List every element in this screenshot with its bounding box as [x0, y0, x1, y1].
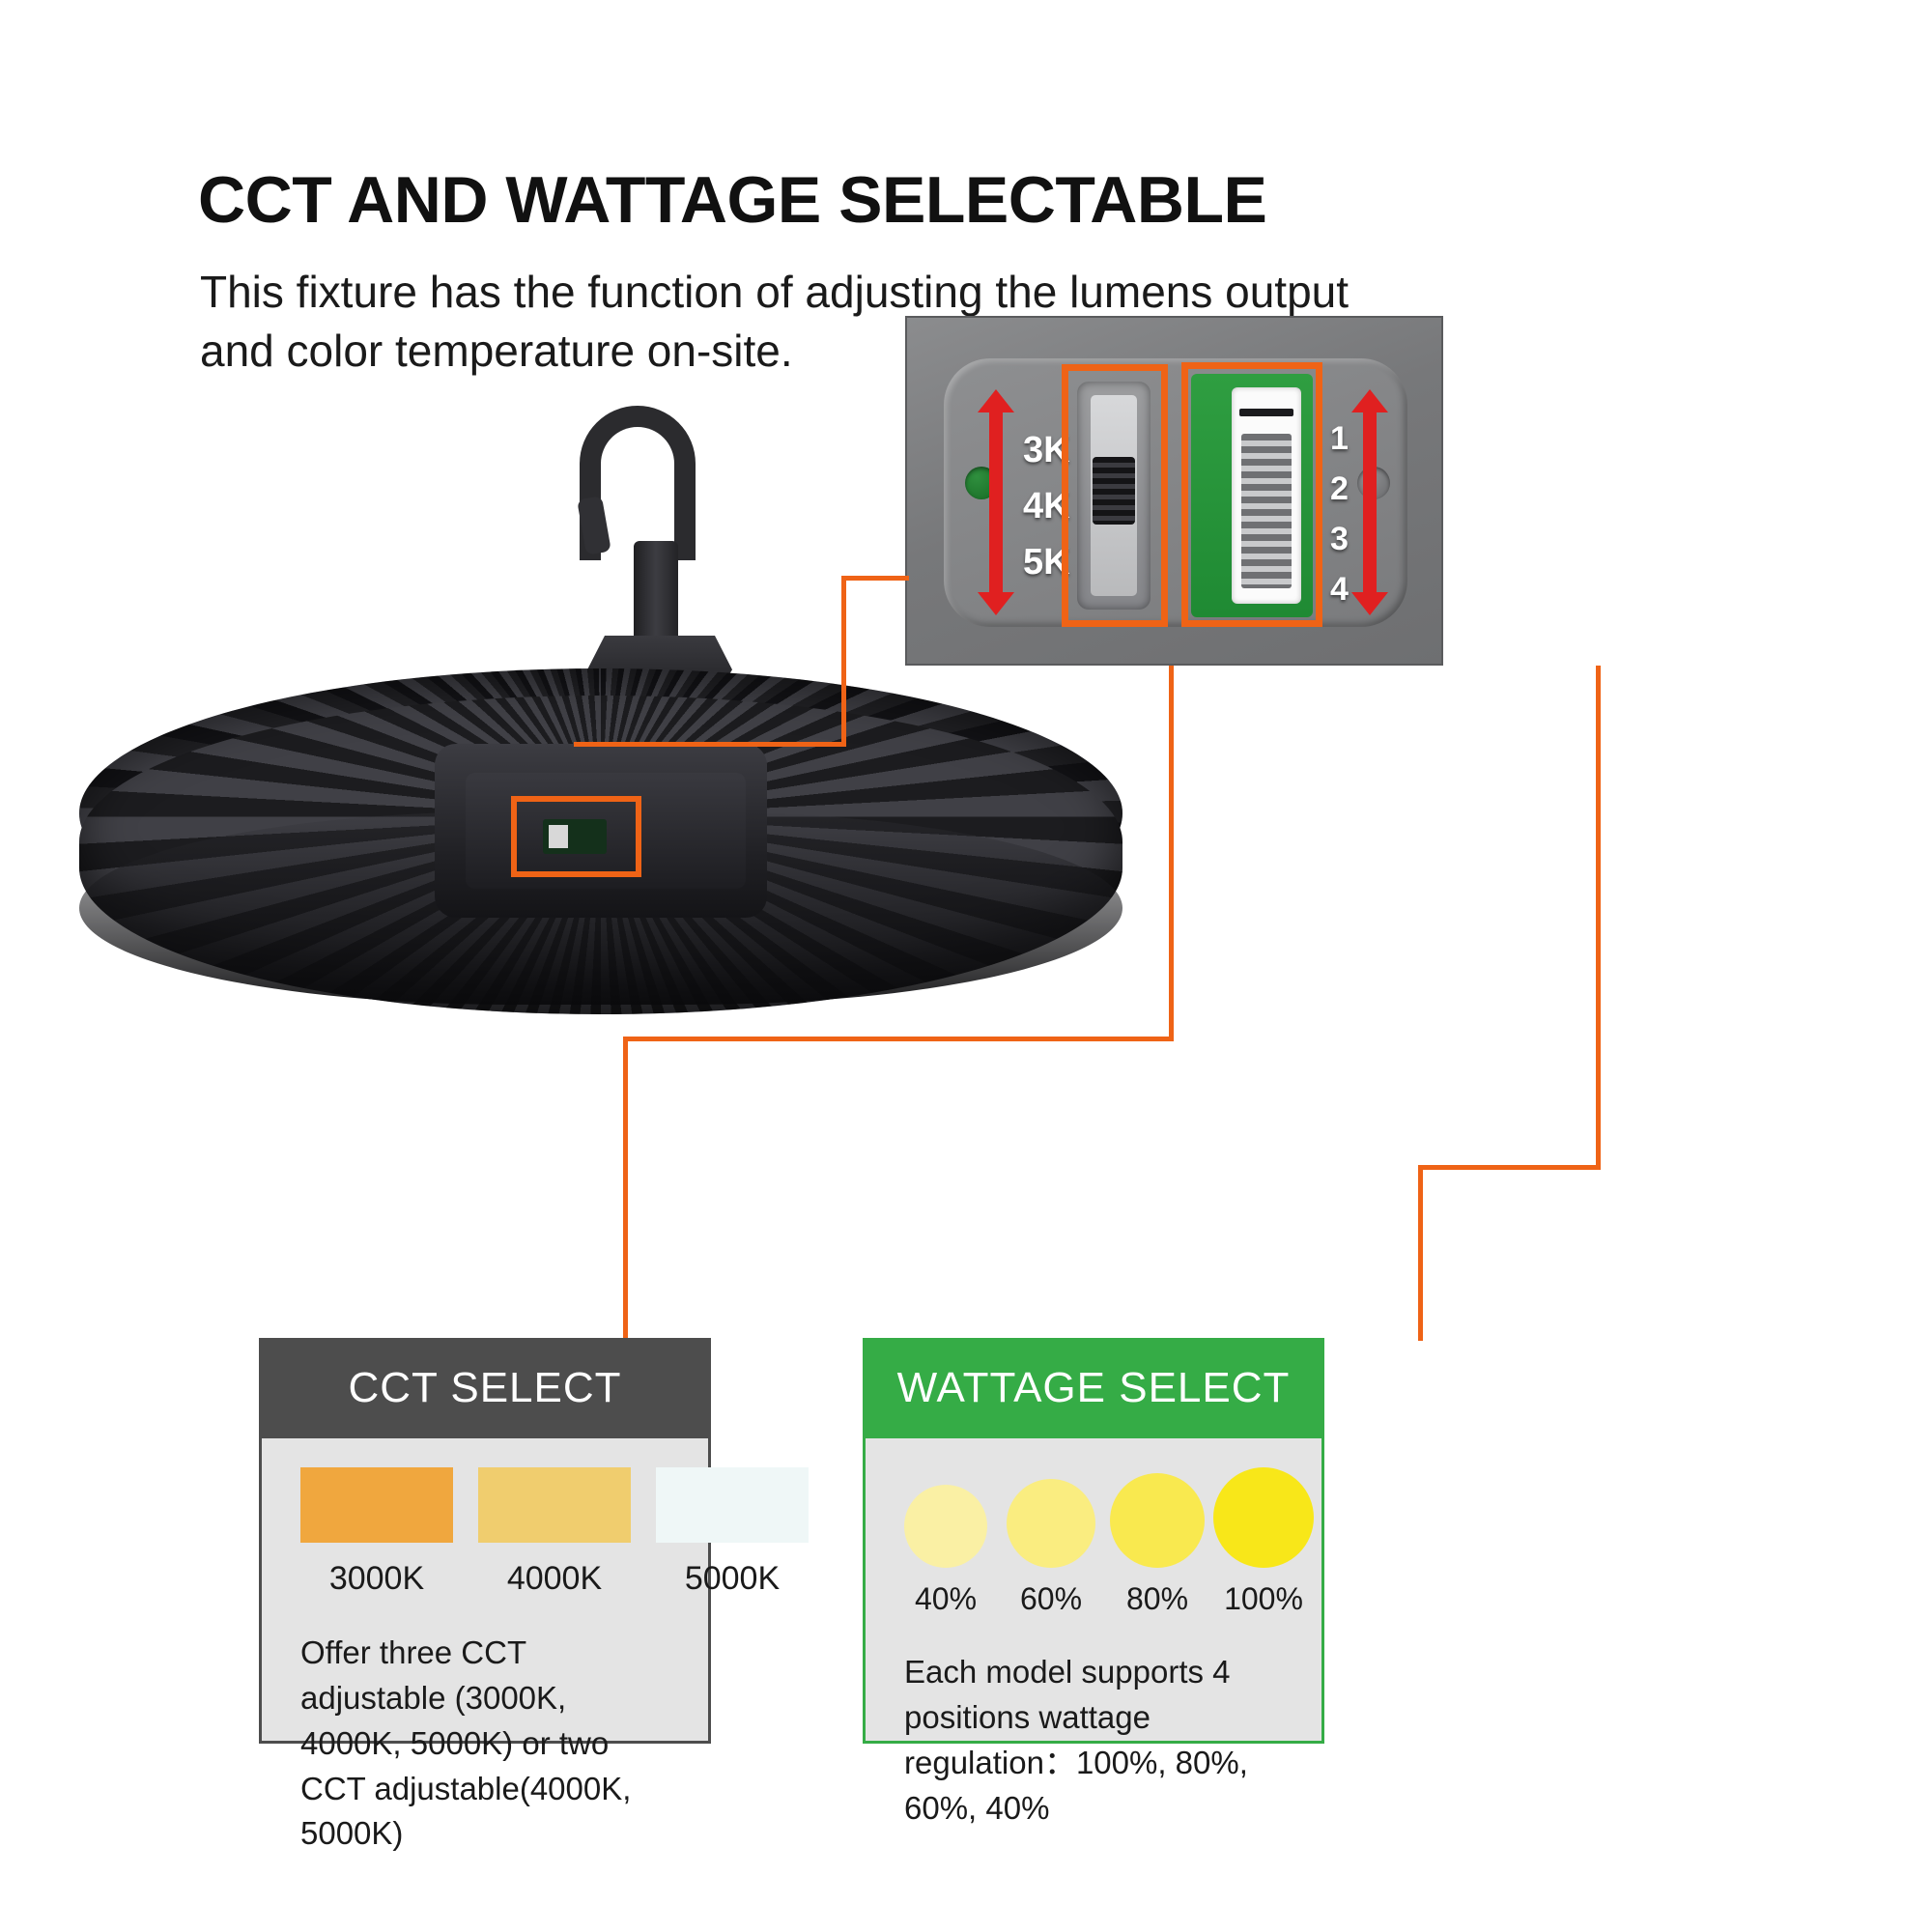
- wattage-card-body: 40% 60% 80% 100% Each model supports 4 p…: [863, 1438, 1324, 1744]
- wattage-position-label-2: 2: [1330, 472, 1349, 505]
- wattage-level-item[interactable]: 80%: [1115, 1473, 1200, 1617]
- connector-wattage-drop-2: [1418, 1165, 1423, 1341]
- wattage-label-60: 60%: [1020, 1581, 1082, 1617]
- wattage-circle-100: [1213, 1467, 1314, 1568]
- connector-wattage-drop-1: [1596, 666, 1601, 1168]
- wattage-circle-row: 40% 60% 80% 100%: [904, 1467, 1283, 1617]
- wattage-circle-60: [1007, 1479, 1095, 1568]
- cct-swatch-item[interactable]: 3000K: [300, 1467, 453, 1598]
- cct-swatch-label-5000k: 5000K: [685, 1560, 780, 1598]
- cct-swatch-5000k: [656, 1467, 809, 1543]
- wattage-position-label-1: 1: [1330, 422, 1349, 455]
- cct-swatch-label-4000k: 4000K: [507, 1560, 602, 1598]
- wattage-position-label-4: 4: [1330, 573, 1349, 606]
- wattage-card-title: WATTAGE SELECT: [897, 1364, 1291, 1412]
- connector-cct-drop-1: [1169, 666, 1174, 1039]
- wattage-position-label-3: 3: [1330, 523, 1349, 555]
- cct-swatch-item[interactable]: 4000K: [478, 1467, 631, 1598]
- cct-card-body: 3000K 4000K 5000K Offer three CCT adjust…: [259, 1438, 711, 1744]
- cct-card-description: Offer three CCT adjustable (3000K, 4000K…: [300, 1631, 669, 1857]
- wattage-circle-40: [904, 1485, 987, 1568]
- cct-switch-callout-box: [1062, 364, 1168, 627]
- cct-swatch-row: 3000K 4000K 5000K: [300, 1467, 669, 1598]
- cct-swatch-3000k: [300, 1467, 453, 1543]
- cct-swatch-label-3000k: 3000K: [329, 1560, 424, 1598]
- cct-range-arrow-icon: [989, 411, 1003, 594]
- wattage-switch-callout-box: [1181, 362, 1322, 627]
- connector-cct-run: [623, 1037, 1174, 1041]
- connector-wattage-run: [1418, 1165, 1601, 1170]
- wattage-level-item[interactable]: 60%: [1009, 1479, 1094, 1617]
- wattage-label-80: 80%: [1126, 1581, 1188, 1617]
- switch-closeup-panel: 3K 4K 5K 1 2 3 4: [905, 316, 1443, 666]
- connector-detail-entry: [841, 576, 909, 581]
- wattage-card-header: WATTAGE SELECT: [863, 1338, 1324, 1438]
- hook-stem: [634, 541, 678, 647]
- wattage-label-100: 100%: [1224, 1581, 1303, 1617]
- wattage-level-item[interactable]: 40%: [904, 1485, 987, 1617]
- connector-cct-drop-2: [623, 1037, 628, 1341]
- wattage-label-40: 40%: [915, 1581, 977, 1617]
- cct-swatch-4000k: [478, 1467, 631, 1543]
- wattage-circle-80: [1110, 1473, 1205, 1568]
- wattage-card-description: Each model supports 4 positions wattage …: [904, 1650, 1283, 1831]
- connector-photo-to-detail-riser: [841, 576, 846, 747]
- cct-select-card: CCT SELECT 3000K 4000K 5000K Offer three…: [259, 1338, 711, 1744]
- page-title: CCT AND WATTAGE SELECTABLE: [198, 162, 1266, 238]
- wattage-select-card: WATTAGE SELECT 40% 60% 80% 100% Each mod…: [863, 1338, 1324, 1744]
- cct-card-title: CCT SELECT: [348, 1364, 621, 1412]
- connector-photo-to-detail: [574, 742, 846, 747]
- photo-highlight-box: [511, 796, 641, 877]
- cct-card-header: CCT SELECT: [259, 1338, 711, 1438]
- wattage-range-arrow-icon: [1363, 411, 1377, 594]
- wattage-level-item[interactable]: 100%: [1221, 1467, 1306, 1617]
- cct-swatch-item[interactable]: 5000K: [656, 1467, 809, 1598]
